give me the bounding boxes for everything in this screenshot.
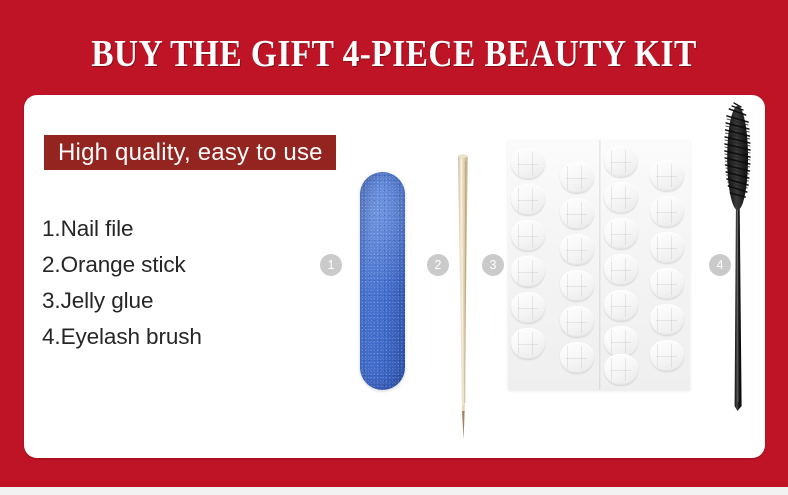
glue-tab [560,342,594,373]
quality-banner: High quality, easy to use [44,135,336,170]
orange-stick-shape [453,153,475,443]
badge-4: 4 [709,254,731,276]
product-orange-stick [453,153,475,443]
product-nail-file [360,172,405,390]
glue-tab [560,306,594,337]
glue-tab [604,218,638,249]
badge-1: 1 [320,254,342,276]
list-item: 4.Eyelash brush [42,319,342,355]
glue-tab [650,268,684,299]
glue-tab [511,220,545,251]
glue-tab [650,340,684,371]
footer-strip [0,487,788,495]
product-card: High quality, easy to use 1.Nail file 2.… [24,95,765,458]
jelly-glue-column [554,140,600,390]
glue-tab [604,182,638,213]
product-banner-image: BUY THE GIFT 4-PIECE BEAUTY KIT High qua… [0,0,788,495]
glue-tab [511,148,545,179]
glue-tab [560,198,594,229]
list-item: 2.Orange stick [42,247,342,283]
glue-tab [511,256,545,287]
glue-tab [604,146,638,177]
glue-tab [604,326,638,357]
glue-tab [604,290,638,321]
page-title: BUY THE GIFT 4-PIECE BEAUTY KIT [91,35,696,73]
glue-tab [560,234,594,265]
product-jelly-glue [508,140,690,390]
glue-tab [650,196,684,227]
list-item: 3.Jelly glue [42,283,342,319]
glue-tab [650,160,684,191]
glue-tab [560,162,594,193]
glue-tab [650,304,684,335]
jelly-glue-column [508,140,554,390]
jelly-glue-column [599,140,645,390]
glue-tab [604,354,638,385]
glue-tab [604,254,638,285]
glue-tab [511,184,545,215]
badge-3: 3 [482,254,504,276]
quality-banner-label: High quality, easy to use [58,141,323,165]
header: BUY THE GIFT 4-PIECE BEAUTY KIT [0,26,788,82]
feature-list: 1.Nail file 2.Orange stick 3.Jelly glue … [42,211,342,355]
glue-tab [650,232,684,263]
glue-tab [511,328,545,359]
badge-2: 2 [427,254,449,276]
glue-tab [511,292,545,323]
nail-file-grit-texture [360,172,405,390]
jelly-glue-column [645,140,691,390]
glue-tab [560,270,594,301]
list-item: 1.Nail file [42,211,342,247]
